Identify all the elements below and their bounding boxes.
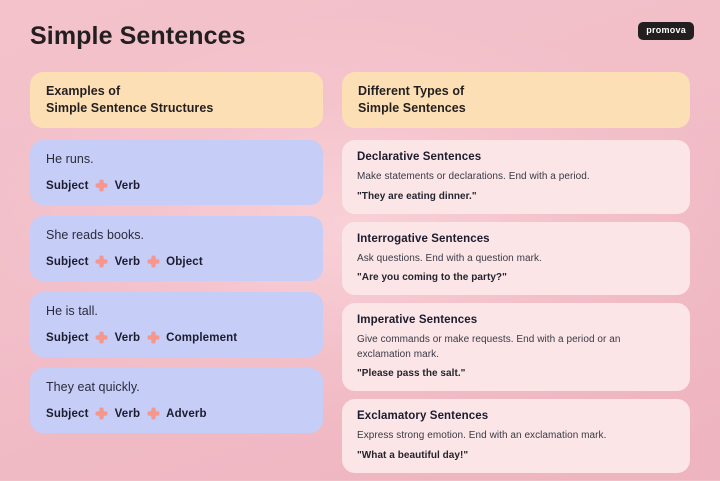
- structure-example-sentence: He is tall.: [46, 304, 307, 318]
- sentence-type-title: Declarative Sentences: [357, 151, 675, 163]
- sentence-type-example: "What a beautiful day!": [357, 450, 675, 461]
- sentence-type-card: Imperative SentencesGive commands or mak…: [342, 303, 690, 391]
- page-title: Simple Sentences: [30, 22, 246, 51]
- sentence-type-example: "They are eating dinner.": [357, 191, 675, 202]
- left-column-header: Examples of Simple Sentence Structures: [30, 72, 323, 128]
- sentence-type-example: "Are you coming to the party?": [357, 272, 675, 283]
- structure-part: Verb: [115, 180, 141, 192]
- structure-formula: SubjectVerb: [46, 179, 307, 192]
- structure-part: Subject: [46, 332, 89, 344]
- promova-logo: promova: [638, 22, 694, 40]
- structure-part: Verb: [115, 408, 141, 420]
- plus-icon: [89, 179, 115, 192]
- sentence-type-description: Make statements or declarations. End wit…: [357, 170, 675, 185]
- sentence-type-card: Interrogative SentencesAsk questions. En…: [342, 222, 690, 296]
- plus-icon: [89, 255, 115, 268]
- sentence-type-list: Declarative SentencesMake statements or …: [342, 140, 690, 473]
- sentence-type-description: Express strong emotion. End with an excl…: [357, 429, 675, 444]
- structure-formula: SubjectVerbComplement: [46, 331, 307, 344]
- plus-icon: [140, 407, 166, 420]
- plus-icon: [140, 255, 166, 268]
- right-header-line-2: Simple Sentences: [358, 100, 674, 117]
- sentence-type-card: Exclamatory SentencesExpress strong emot…: [342, 399, 690, 473]
- infographic-canvas: Simple Sentences promova Examples of Sim…: [0, 0, 720, 480]
- plus-icon: [89, 407, 115, 420]
- structure-part: Subject: [46, 256, 89, 268]
- structure-part: Complement: [166, 332, 237, 344]
- structure-example-sentence: He runs.: [46, 152, 307, 166]
- sentence-type-card: Declarative SentencesMake statements or …: [342, 140, 690, 214]
- sentence-type-example: "Please pass the salt.": [357, 368, 675, 379]
- plus-icon: [140, 331, 166, 344]
- structure-card: He runs.SubjectVerb: [30, 140, 323, 205]
- left-header-line-2: Simple Sentence Structures: [46, 100, 307, 117]
- structure-formula: SubjectVerbAdverb: [46, 407, 307, 420]
- plus-icon: [89, 331, 115, 344]
- structure-example-sentence: She reads books.: [46, 228, 307, 242]
- structure-card: She reads books.SubjectVerbObject: [30, 216, 323, 281]
- right-column-header: Different Types of Simple Sentences: [342, 72, 690, 128]
- structure-part: Subject: [46, 180, 89, 192]
- left-header-line-1: Examples of: [46, 83, 307, 100]
- structure-example-sentence: They eat quickly.: [46, 380, 307, 394]
- right-header-line-1: Different Types of: [358, 83, 674, 100]
- structure-formula: SubjectVerbObject: [46, 255, 307, 268]
- sentence-type-title: Interrogative Sentences: [357, 233, 675, 245]
- sentence-structure-list: He runs.SubjectVerbShe reads books.Subje…: [30, 140, 323, 433]
- structure-part: Verb: [115, 256, 141, 268]
- sentence-type-description: Give commands or make requests. End with…: [357, 333, 675, 362]
- structure-part: Verb: [115, 332, 141, 344]
- sentence-type-title: Exclamatory Sentences: [357, 410, 675, 422]
- structure-part: Adverb: [166, 408, 207, 420]
- structure-card: He is tall.SubjectVerbComplement: [30, 292, 323, 357]
- sentence-type-title: Imperative Sentences: [357, 314, 675, 326]
- left-column: Examples of Simple Sentence Structures H…: [30, 72, 323, 444]
- sentence-type-description: Ask questions. End with a question mark.: [357, 252, 675, 267]
- right-column: Different Types of Simple Sentences Decl…: [342, 72, 690, 481]
- structure-part: Subject: [46, 408, 89, 420]
- structure-card: They eat quickly.SubjectVerbAdverb: [30, 368, 323, 433]
- structure-part: Object: [166, 256, 203, 268]
